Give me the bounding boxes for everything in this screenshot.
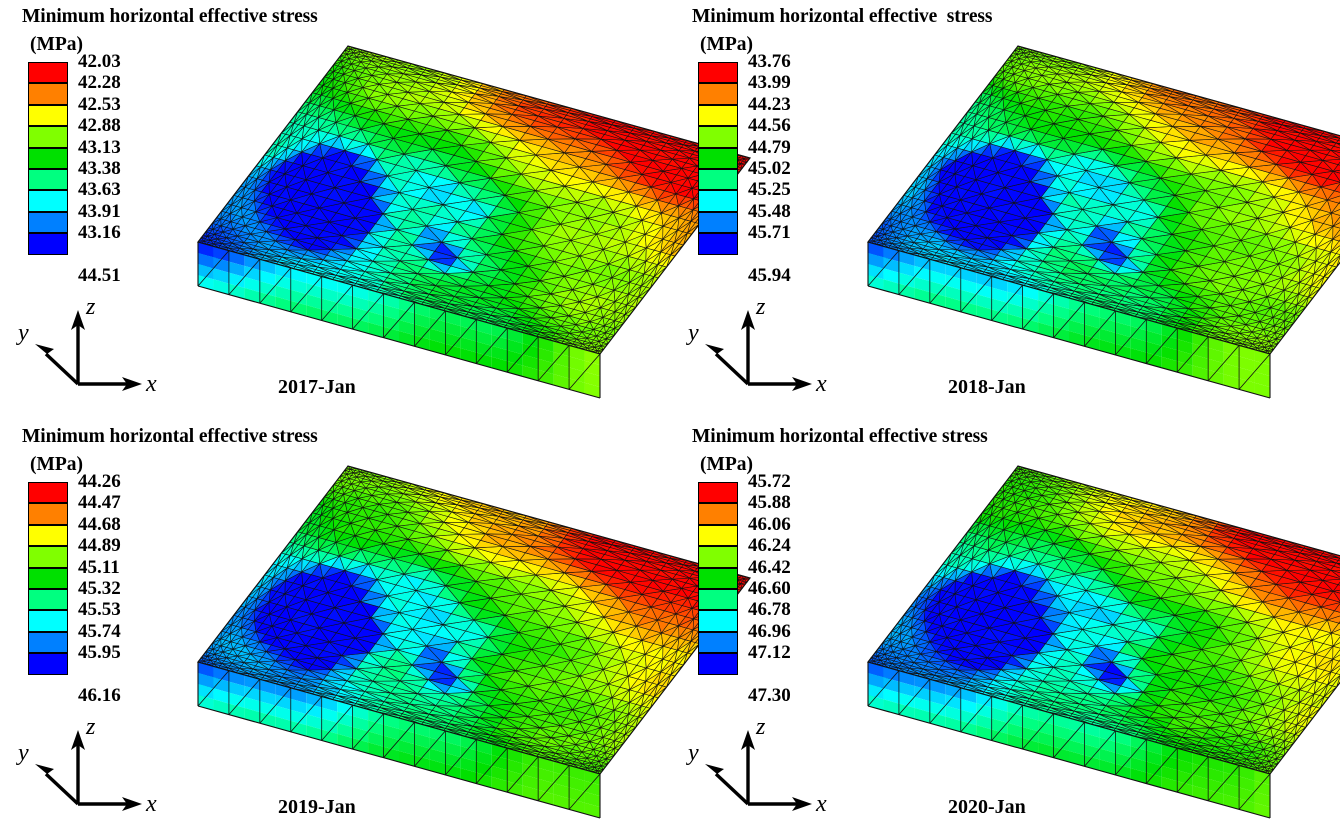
- axis-triad: z y x: [688, 712, 838, 812]
- axis-triad: z y x: [18, 292, 168, 392]
- y-axis-label: y: [16, 740, 29, 766]
- legend-value: 46.60: [748, 578, 791, 600]
- legend-row: 43.16: [28, 233, 178, 254]
- legend-swatch: [698, 169, 738, 190]
- legend-value: 43.38: [78, 158, 121, 180]
- legend-swatch: [698, 126, 738, 147]
- legend-value: 46.42: [748, 557, 791, 579]
- legend-value: 45.48: [748, 201, 791, 223]
- legend-value: 45.74: [78, 621, 121, 643]
- model-block-3d: [160, 20, 640, 365]
- legend-swatch: [28, 169, 68, 190]
- panel-unit-label: (MPa): [30, 454, 83, 476]
- legend-swatch: [28, 233, 68, 254]
- legend-row: 45.71: [698, 233, 848, 254]
- legend-value: 43.63: [78, 179, 121, 201]
- color-legend: 43.7643.9944.2344.5644.7945.0245.2545.48…: [698, 62, 848, 255]
- panel-unit-label: (MPa): [700, 34, 753, 56]
- model-block-3d: [160, 440, 640, 785]
- legend-value: 45.32: [78, 578, 121, 600]
- panel-unit-label: (MPa): [30, 34, 83, 56]
- legend-value: 45.88: [748, 492, 791, 514]
- y-axis-label: y: [686, 320, 699, 346]
- legend-swatch: [698, 503, 738, 524]
- legend-value: 44.23: [748, 94, 791, 116]
- legend-swatch: [28, 148, 68, 169]
- model-block-3d: [830, 440, 1310, 785]
- legend-swatch: [698, 546, 738, 567]
- model-block-3d: [830, 20, 1310, 365]
- z-axis-label: z: [755, 714, 766, 740]
- legend-value: 45.11: [78, 557, 120, 579]
- legend-value: 46.06: [748, 514, 791, 536]
- legend-swatch: [698, 105, 738, 126]
- legend-swatch: [698, 83, 738, 104]
- panel-caption: 2019-Jan: [278, 796, 356, 819]
- panel-unit-label: (MPa): [700, 454, 753, 476]
- legend-swatch: [28, 482, 68, 503]
- z-axis-label: z: [85, 294, 96, 320]
- legend-swatch: [28, 610, 68, 631]
- legend-value: 44.26: [78, 471, 121, 493]
- legend-swatch: [28, 653, 68, 674]
- legend-value: 45.71: [748, 222, 791, 244]
- legend-swatch: [28, 83, 68, 104]
- axis-triad-svg: z y x: [18, 712, 168, 812]
- y-axis-label: y: [686, 740, 699, 766]
- z-axis-label: z: [85, 714, 96, 740]
- legend-swatch: [28, 568, 68, 589]
- figure-panel-2017: Minimum horizontal effective stress (MPa…: [0, 0, 670, 419]
- legend-value: 44.47: [78, 492, 121, 514]
- legend-swatch: [698, 653, 738, 674]
- figure-panel-2019: Minimum horizontal effective stress (MPa…: [0, 420, 670, 839]
- legend-swatch: [28, 212, 68, 233]
- legend-value: 43.76: [748, 51, 791, 73]
- legend-swatch: [698, 632, 738, 653]
- legend-value: 44.89: [78, 535, 121, 557]
- legend-swatch: [28, 105, 68, 126]
- legend-swatch: [698, 568, 738, 589]
- axis-triad: z y x: [688, 292, 838, 392]
- legend-row: 47.12: [698, 653, 848, 674]
- legend-swatch: [698, 589, 738, 610]
- axis-triad: z y x: [18, 712, 168, 812]
- legend-value: 43.99: [748, 72, 791, 94]
- x-axis-label: x: [145, 371, 157, 397]
- legend-value: 45.72: [748, 471, 791, 493]
- legend-swatch: [28, 525, 68, 546]
- legend-swatch: [28, 62, 68, 83]
- legend-value: 42.28: [78, 72, 121, 94]
- figure-panel-2018: Minimum horizontal effective stress (MPa…: [670, 0, 1340, 419]
- reservoir-block-svg: [830, 440, 1310, 785]
- legend-value: 44.56: [748, 115, 791, 137]
- axis-triad-svg: z y x: [688, 292, 838, 392]
- legend-swatch: [698, 482, 738, 503]
- legend-value: 46.96: [748, 621, 791, 643]
- legend-value: 42.03: [78, 51, 121, 73]
- legend-swatch: [698, 233, 738, 254]
- legend-swatch: [28, 589, 68, 610]
- legend-swatch: [28, 546, 68, 567]
- x-axis-label: x: [815, 371, 827, 397]
- legend-value: 44.68: [78, 514, 121, 536]
- legend-value: 47.30: [748, 685, 791, 707]
- figure-panel-2020: Minimum horizontal effective stress (MPa…: [670, 420, 1340, 839]
- legend-value: 46.24: [748, 535, 791, 557]
- z-axis-label: z: [755, 294, 766, 320]
- legend-row: 45.95: [28, 653, 178, 674]
- legend-value: 43.91: [78, 201, 121, 223]
- legend-value: 42.53: [78, 94, 121, 116]
- reservoir-block-svg: [830, 20, 1310, 365]
- axis-triad-svg: z y x: [688, 712, 838, 812]
- reservoir-block-svg: [160, 440, 640, 785]
- color-legend: 45.7245.8846.0646.2446.4246.6046.7846.96…: [698, 482, 848, 675]
- legend-value: 44.51: [78, 265, 121, 287]
- panel-caption: 2017-Jan: [278, 376, 356, 399]
- panel-caption: 2018-Jan: [948, 376, 1026, 399]
- panel-caption: 2020-Jan: [948, 796, 1026, 819]
- legend-swatch: [28, 503, 68, 524]
- axis-triad-svg: z y x: [18, 292, 168, 392]
- legend-value: 45.53: [78, 599, 121, 621]
- legend-swatch: [698, 148, 738, 169]
- legend-swatch: [698, 190, 738, 211]
- legend-swatch: [28, 190, 68, 211]
- legend-swatch: [698, 212, 738, 233]
- legend-value: 45.25: [748, 179, 791, 201]
- legend-swatch: [698, 62, 738, 83]
- color-legend: 44.2644.4744.6844.8945.1145.3245.5345.74…: [28, 482, 178, 675]
- legend-value: 45.02: [748, 158, 791, 180]
- legend-swatch: [28, 126, 68, 147]
- legend-swatch: [28, 632, 68, 653]
- legend-value: 46.78: [748, 599, 791, 621]
- x-axis-label: x: [145, 791, 157, 817]
- color-legend: 42.0342.2842.5342.8843.1343.3843.6343.91…: [28, 62, 178, 255]
- x-axis-label: x: [815, 791, 827, 817]
- legend-value: 45.95: [78, 642, 121, 664]
- legend-value: 43.13: [78, 137, 121, 159]
- legend-swatch: [698, 610, 738, 631]
- legend-value: 43.16: [78, 222, 121, 244]
- legend-value: 45.94: [748, 265, 791, 287]
- reservoir-block-svg: [160, 20, 640, 365]
- legend-swatch: [698, 525, 738, 546]
- y-axis-label: y: [16, 320, 29, 346]
- legend-value: 47.12: [748, 642, 791, 664]
- legend-value: 42.88: [78, 115, 121, 137]
- legend-value: 44.79: [748, 137, 791, 159]
- legend-value: 46.16: [78, 685, 121, 707]
